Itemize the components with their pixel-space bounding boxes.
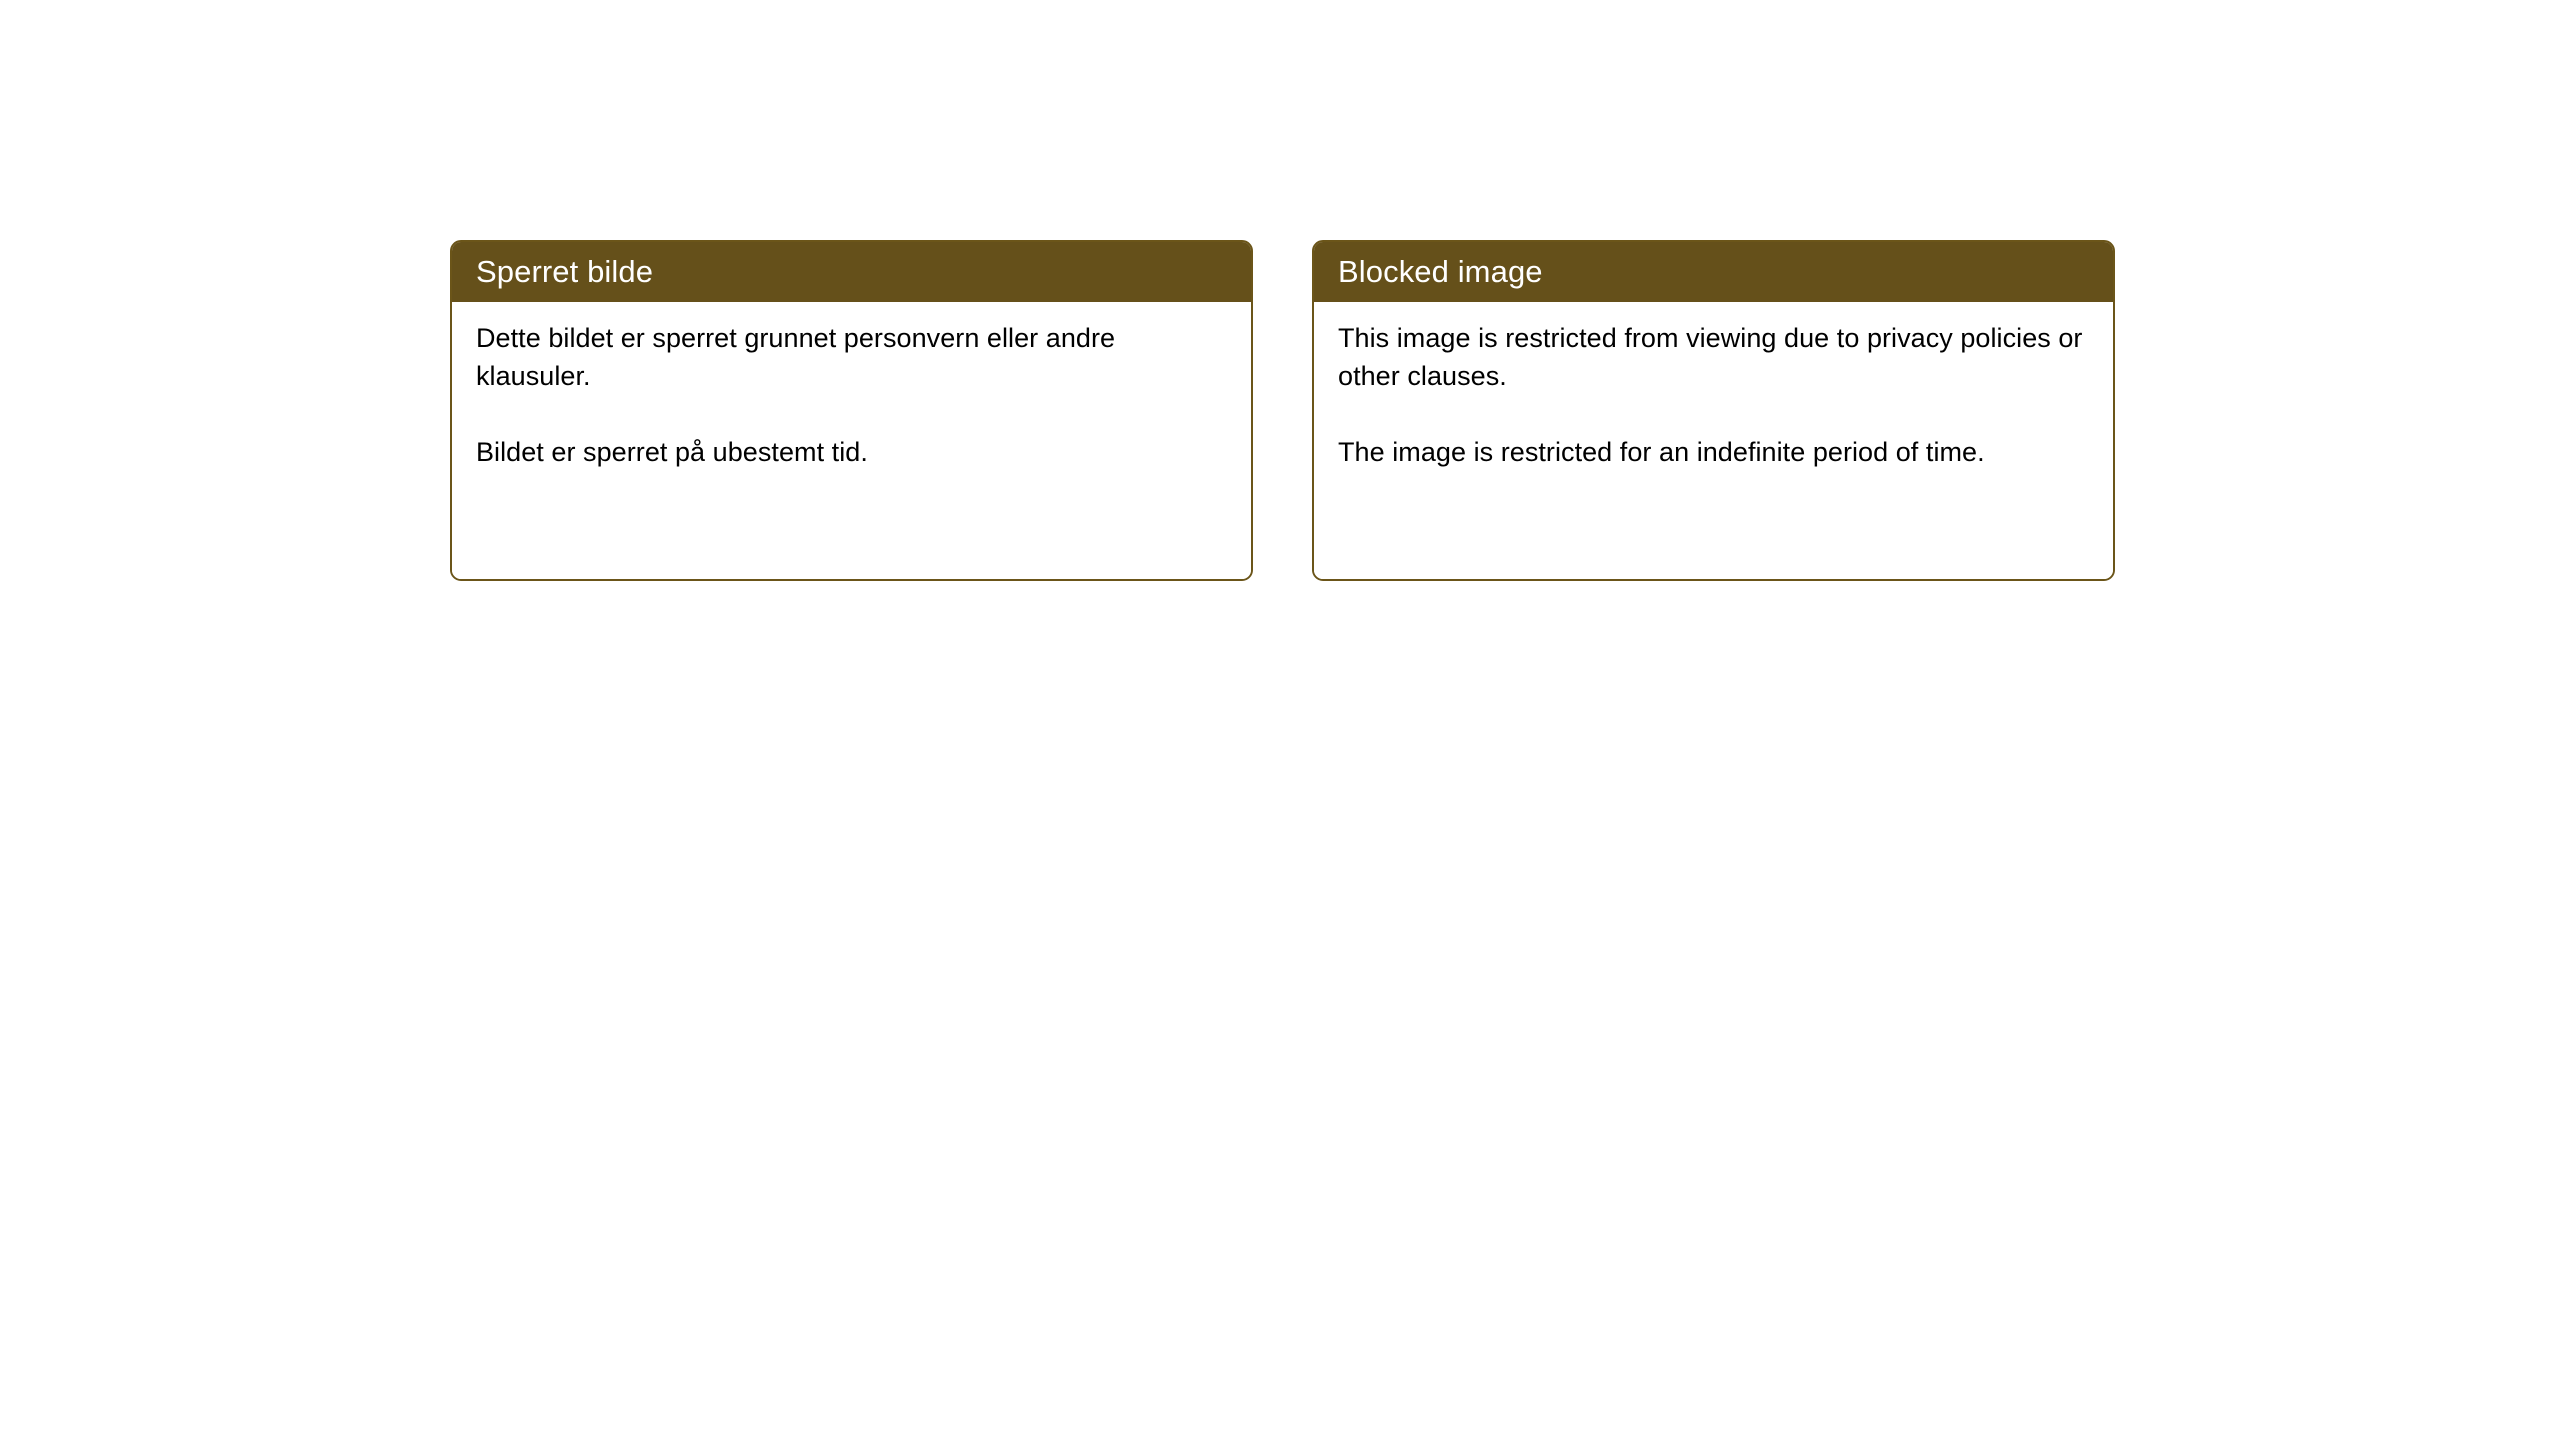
card-header-english: Blocked image: [1314, 242, 2113, 302]
page-root: Sperret bilde Dette bildet er sperret gr…: [0, 0, 2560, 1440]
blocked-image-card-english: Blocked image This image is restricted f…: [1312, 240, 2115, 581]
card-title-norwegian: Sperret bilde: [476, 254, 653, 290]
card-title-english: Blocked image: [1338, 254, 1543, 290]
card-paragraph-norwegian-2: Bildet er sperret på ubestemt tid.: [476, 433, 1225, 471]
card-paragraph-english-1: This image is restricted from viewing du…: [1338, 319, 2087, 395]
card-paragraph-english-2: The image is restricted for an indefinit…: [1338, 433, 2087, 471]
card-header-norwegian: Sperret bilde: [452, 242, 1251, 302]
card-body-norwegian: Dette bildet er sperret grunnet personve…: [452, 302, 1251, 579]
blocked-image-card-norwegian: Sperret bilde Dette bildet er sperret gr…: [450, 240, 1253, 581]
card-paragraph-norwegian-1: Dette bildet er sperret grunnet personve…: [476, 319, 1225, 395]
blocked-image-notice-group: Sperret bilde Dette bildet er sperret gr…: [450, 240, 2115, 581]
card-body-english: This image is restricted from viewing du…: [1314, 302, 2113, 579]
